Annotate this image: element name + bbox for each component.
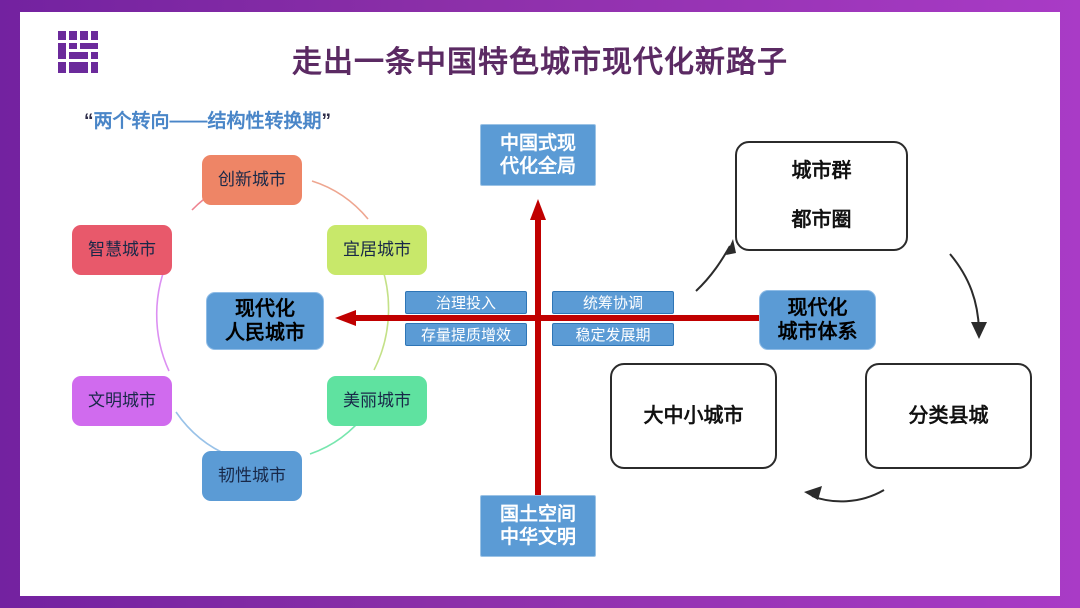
- ring-center-node[interactable]: 现代化 人民城市: [206, 292, 324, 350]
- quadrant-label-top-left[interactable]: 治理投入: [405, 291, 527, 314]
- quadrant-label-top-right[interactable]: 统筹协调: [552, 291, 674, 314]
- quote-close: ”: [322, 111, 332, 132]
- ring-item-label: 智慧城市: [88, 240, 156, 261]
- ring-item-zhihui[interactable]: 智慧城市: [72, 225, 172, 275]
- system-hub-node[interactable]: 现代化 城市体系: [759, 290, 876, 350]
- quadrant-label-text: 存量提质增效: [421, 324, 511, 345]
- ring-item-label: 创新城市: [218, 170, 286, 191]
- quadrant-label-text: 统筹协调: [583, 292, 643, 313]
- page-title: 走出一条中国特色城市现代化新路子: [22, 37, 1058, 81]
- ring-item-wenming[interactable]: 文明城市: [72, 376, 172, 426]
- system-node-chengshiqun[interactable]: 城市群 都市圈: [735, 141, 908, 251]
- slide-background: 走出一条中国特色城市现代化新路子 “两个转向——结构性转换期”: [0, 0, 1080, 608]
- ring-item-yiju[interactable]: 宜居城市: [327, 225, 427, 275]
- system-node-dazhongxiaochengshi[interactable]: 大中小城市: [610, 363, 777, 469]
- ring-item-meili[interactable]: 美丽城市: [327, 376, 427, 426]
- subtitle: “两个转向——结构性转换期”: [84, 106, 331, 133]
- system-hub-line1: 现代化: [788, 297, 848, 319]
- system-node-line2: 都市圈: [792, 209, 852, 231]
- ring-item-label: 宜居城市: [343, 240, 411, 261]
- ring-arc-renxing-wenming: [176, 412, 230, 456]
- system-node-fenleixiancheng[interactable]: 分类县城: [865, 363, 1032, 469]
- ring-item-label: 文明城市: [88, 391, 156, 412]
- system-hub-line2: 城市体系: [778, 321, 858, 343]
- axis-bottom-node[interactable]: 国土空间 中华文明: [480, 495, 596, 557]
- ring-center-line2: 人民城市: [225, 322, 305, 344]
- subtitle-text: 两个转向——结构性转换期: [94, 111, 322, 132]
- ring-item-chuangxin[interactable]: 创新城市: [202, 155, 302, 205]
- system-node-line1: 分类县城: [909, 404, 989, 428]
- axis-bottom-line1: 国土空间: [500, 504, 576, 525]
- ring-item-label: 韧性城市: [218, 466, 286, 487]
- system-node-line1: 城市群: [792, 160, 852, 182]
- ring-item-renxing[interactable]: 韧性城市: [202, 451, 302, 501]
- axis-bottom-line2: 中华文明: [500, 527, 576, 548]
- ring-arc-chuangxin-yiju: [312, 181, 368, 219]
- axis-top-line1: 中国式现: [500, 133, 576, 154]
- quadrant-label-bottom-left[interactable]: 存量提质增效: [405, 323, 527, 346]
- ring-item-label: 美丽城市: [343, 391, 411, 412]
- quadrant-label-text: 稳定发展期: [575, 324, 650, 345]
- axis-top-node[interactable]: 中国式现 代化全局: [480, 124, 596, 186]
- quadrant-label-bottom-right[interactable]: 稳定发展期: [552, 323, 674, 346]
- slide-canvas: 走出一条中国特色城市现代化新路子 “两个转向——结构性转换期”: [22, 14, 1058, 594]
- quadrant-label-text: 治理投入: [436, 292, 496, 313]
- axis-top-line2: 代化全局: [500, 156, 576, 177]
- system-node-line1: 大中小城市: [644, 404, 744, 428]
- ring-center-line1: 现代化: [235, 298, 295, 320]
- quote-open: “: [84, 111, 94, 132]
